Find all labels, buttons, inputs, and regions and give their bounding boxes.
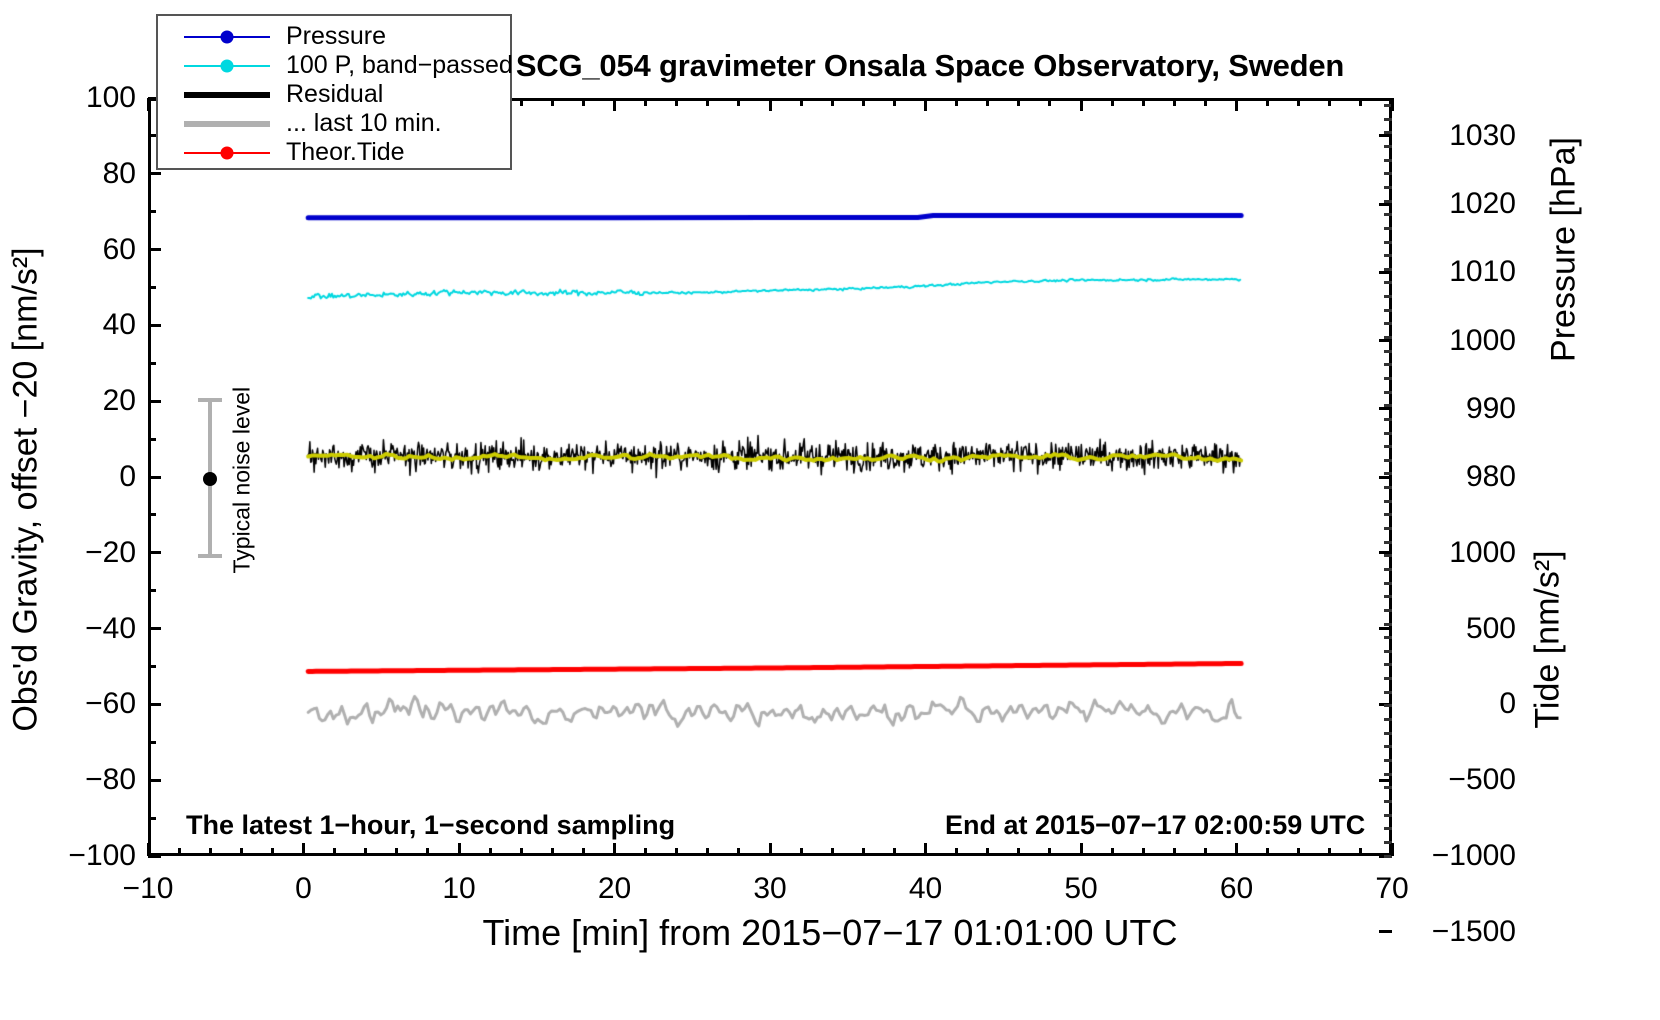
pressure-tick-major <box>1379 271 1392 274</box>
right-tick-minor <box>1384 595 1392 598</box>
tide-tick-major <box>1379 779 1392 782</box>
right-tick-minor <box>1384 486 1392 489</box>
y-tick-major <box>148 855 161 858</box>
x-tick-minor-top <box>551 98 554 106</box>
right-tick-minor <box>1384 472 1392 475</box>
pressure-tick-major <box>1379 407 1392 410</box>
x-tick-minor <box>737 848 740 856</box>
x-tick-minor-top <box>582 98 585 106</box>
y-tick-minor <box>148 286 156 289</box>
x-tick-minor-top <box>893 98 896 106</box>
x-tick-minor-top <box>1204 98 1207 106</box>
x-tick-minor <box>520 848 523 856</box>
x-tick-major-top <box>1080 98 1083 111</box>
x-tick-minor-top <box>520 98 523 106</box>
right-tick-minor <box>1384 241 1392 244</box>
x-tick-minor <box>1111 848 1114 856</box>
right-tick-minor <box>1384 445 1392 448</box>
y-tick-label: −100 <box>18 839 136 873</box>
right-tick-minor <box>1384 268 1392 271</box>
x-tick-minor-top <box>1048 98 1051 106</box>
right-tick-minor <box>1384 513 1392 516</box>
y-tick-minor <box>148 589 156 592</box>
tide-tick-label: 500 <box>1406 612 1516 646</box>
legend-swatch <box>184 143 270 163</box>
legend-label: Residual <box>286 80 383 109</box>
y-tick-minor <box>148 362 156 365</box>
right-tick-minor <box>1384 131 1392 134</box>
right-tick-minor <box>1384 568 1392 571</box>
y-tick-major <box>148 703 161 706</box>
right-tick-minor <box>1384 432 1392 435</box>
tide-tick-major <box>1379 627 1392 630</box>
x-tick-minor-top <box>955 98 958 106</box>
tide-tick-label: −1500 <box>1406 915 1516 949</box>
right-tick-minor <box>1384 336 1392 339</box>
right-tick-minor <box>1384 309 1392 312</box>
right-tick-minor <box>1384 363 1392 366</box>
x-tick-minor-top <box>986 98 989 106</box>
right-tick-minor <box>1384 186 1392 189</box>
x-tick-minor <box>706 848 709 856</box>
legend-item[interactable]: Residual <box>158 80 510 109</box>
right-tick-minor <box>1384 322 1392 325</box>
right-tick-minor <box>1384 745 1392 748</box>
right-tick-minor <box>1384 759 1392 762</box>
x-tick-minor <box>862 848 865 856</box>
pressure-tick-major <box>1379 134 1392 137</box>
right-tick-minor <box>1384 459 1392 462</box>
x-tick-minor <box>582 848 585 856</box>
noise-cap-bottom <box>198 554 222 558</box>
legend-swatch <box>184 114 270 134</box>
x-tick-major-top <box>769 98 772 111</box>
y-axis-right-tide-label: Tide [nm/s²] <box>1529 500 1568 780</box>
x-tick-minor <box>489 848 492 856</box>
right-tick-minor <box>1384 827 1392 830</box>
x-tick-major <box>458 843 461 856</box>
legend-item[interactable]: 100 P, band−passed <box>158 51 510 80</box>
x-tick-minor <box>675 848 678 856</box>
x-tick-major-top <box>924 98 927 111</box>
x-tick-minor <box>333 848 336 856</box>
legend-label: Pressure <box>286 22 386 51</box>
bottom-left-note: The latest 1−hour, 1−second sampling <box>186 810 675 841</box>
right-tick-minor <box>1384 732 1392 735</box>
x-tick-major <box>147 843 150 856</box>
legend-swatch <box>184 27 270 47</box>
legend-marker-dot <box>221 59 234 72</box>
x-tick-minor-top <box>644 98 647 106</box>
x-tick-major-top <box>1235 98 1238 111</box>
x-tick-minor <box>1359 848 1362 856</box>
x-tick-minor-top <box>737 98 740 106</box>
x-tick-major-top <box>147 98 150 111</box>
y-tick-major <box>148 627 161 630</box>
x-tick-minor <box>644 848 647 856</box>
x-tick-major <box>613 843 616 856</box>
pressure-tick-label: 1010 <box>1406 255 1516 289</box>
right-tick-minor <box>1384 609 1392 612</box>
right-tick-minor <box>1384 800 1392 803</box>
plot-canvas <box>148 98 1392 856</box>
legend-swatch <box>184 56 270 76</box>
x-tick-minor <box>178 848 181 856</box>
right-tick-minor <box>1384 718 1392 721</box>
y-tick-minor <box>148 438 156 441</box>
legend-marker-dot <box>221 30 234 43</box>
noise-level-label: Typical noise level <box>229 394 256 574</box>
y-tick-major <box>148 248 161 251</box>
right-tick-minor <box>1384 541 1392 544</box>
y-tick-major <box>148 400 161 403</box>
right-tick-minor <box>1384 172 1392 175</box>
y-tick-major <box>148 172 161 175</box>
tide-tick-label: −500 <box>1406 763 1516 797</box>
y-tick-major <box>148 324 161 327</box>
right-tick-minor <box>1384 404 1392 407</box>
x-tick-minor <box>240 848 243 856</box>
pressure-tick-major <box>1379 203 1392 206</box>
x-tick-minor-top <box>1359 98 1362 106</box>
y-tick-minor <box>148 134 156 137</box>
x-tick-minor-top <box>831 98 834 106</box>
x-tick-major <box>769 843 772 856</box>
right-tick-minor <box>1384 650 1392 653</box>
pressure-tick-label: 980 <box>1406 460 1516 494</box>
x-tick-minor <box>800 848 803 856</box>
x-tick-major-top <box>1391 98 1394 111</box>
right-tick-minor <box>1384 786 1392 789</box>
right-tick-minor <box>1384 554 1392 557</box>
legend-item[interactable]: Theor.Tide <box>158 138 510 167</box>
pressure-tick-major <box>1379 476 1392 479</box>
x-tick-minor <box>271 848 274 856</box>
noise-center-dot <box>203 472 217 486</box>
x-tick-label: 50 <box>1064 872 1097 906</box>
x-tick-minor <box>551 848 554 856</box>
tide-tick-label: 1000 <box>1406 536 1516 570</box>
x-tick-minor <box>1048 848 1051 856</box>
x-tick-label: 20 <box>598 872 631 906</box>
x-tick-minor <box>1266 848 1269 856</box>
right-tick-minor <box>1384 281 1392 284</box>
right-tick-minor <box>1384 814 1392 817</box>
x-tick-minor <box>1173 848 1176 856</box>
right-tick-minor <box>1384 677 1392 680</box>
y-tick-major <box>148 476 161 479</box>
x-tick-label: 70 <box>1375 872 1408 906</box>
legend-label: 100 P, band−passed <box>286 51 513 80</box>
tide-tick-label: 0 <box>1406 687 1516 721</box>
right-tick-minor <box>1384 391 1392 394</box>
x-tick-major <box>302 843 305 856</box>
right-tick-minor <box>1384 704 1392 707</box>
right-tick-minor <box>1384 663 1392 666</box>
x-tick-minor-top <box>1297 98 1300 106</box>
right-tick-minor <box>1384 418 1392 421</box>
x-tick-major-top <box>613 98 616 111</box>
x-tick-minor-top <box>706 98 709 106</box>
x-tick-minor <box>986 848 989 856</box>
y-tick-minor <box>148 513 156 516</box>
y-tick-label: 100 <box>18 81 136 115</box>
right-tick-minor <box>1384 227 1392 230</box>
x-tick-minor-top <box>1017 98 1020 106</box>
x-tick-minor <box>1017 848 1020 856</box>
right-tick-minor <box>1384 200 1392 203</box>
x-tick-minor <box>395 848 398 856</box>
y-tick-major <box>148 551 161 554</box>
right-tick-minor <box>1384 527 1392 530</box>
legend-swatch <box>184 85 270 105</box>
x-tick-minor <box>1297 848 1300 856</box>
x-tick-minor <box>831 848 834 856</box>
right-tick-minor <box>1384 145 1392 148</box>
x-tick-label: 30 <box>753 872 786 906</box>
x-tick-label: 10 <box>442 872 475 906</box>
x-tick-minor <box>955 848 958 856</box>
x-tick-minor <box>364 848 367 856</box>
right-tick-minor <box>1384 213 1392 216</box>
y-tick-minor <box>148 665 156 668</box>
noise-level-annotation: Typical noise level <box>182 398 262 578</box>
y-axis-left-label: Obs'd Gravity, offset −20 [nm/s²] <box>7 180 46 800</box>
y-tick-minor <box>148 210 156 213</box>
x-tick-label: 0 <box>295 872 312 906</box>
chart-page: SCG_054 gravimeter Onsala Space Observat… <box>0 0 1660 1020</box>
y-axis-right-pressure-label: Pressure [hPa] <box>1545 90 1584 410</box>
legend-item[interactable]: ... last 10 min. <box>158 109 510 138</box>
pressure-tick-label: 1000 <box>1406 324 1516 358</box>
y-tick-minor <box>148 817 156 820</box>
x-tick-minor-top <box>1111 98 1114 106</box>
x-tick-minor <box>1328 848 1331 856</box>
legend-label: ... last 10 min. <box>286 109 442 138</box>
x-tick-label: 40 <box>909 872 942 906</box>
right-tick-minor <box>1384 350 1392 353</box>
x-tick-minor <box>209 848 212 856</box>
page-title: SCG_054 gravimeter Onsala Space Observat… <box>430 48 1430 84</box>
x-tick-minor <box>1204 848 1207 856</box>
y-tick-minor <box>148 741 156 744</box>
right-tick-minor <box>1384 159 1392 162</box>
x-tick-label: −10 <box>123 872 174 906</box>
pressure-tick-label: 1020 <box>1406 187 1516 221</box>
x-tick-major <box>924 843 927 856</box>
right-tick-minor <box>1384 295 1392 298</box>
pressure-tick-label: 1030 <box>1406 119 1516 153</box>
pressure-tick-label: 990 <box>1406 392 1516 426</box>
x-tick-minor-top <box>800 98 803 106</box>
legend-marker-dot <box>221 146 234 159</box>
x-tick-minor-top <box>675 98 678 106</box>
legend-line <box>184 121 270 127</box>
x-tick-minor <box>893 848 896 856</box>
x-tick-minor-top <box>1266 98 1269 106</box>
right-tick-minor <box>1384 582 1392 585</box>
x-tick-minor-top <box>1142 98 1145 106</box>
tide-tick-major <box>1379 930 1392 933</box>
right-tick-minor <box>1384 118 1392 121</box>
x-tick-major <box>1235 843 1238 856</box>
bottom-right-note: End at 2015−07−17 02:00:59 UTC <box>945 810 1365 841</box>
legend-item[interactable]: Pressure <box>158 22 510 51</box>
right-tick-minor <box>1384 377 1392 380</box>
right-tick-minor <box>1384 254 1392 257</box>
right-tick-minor <box>1384 773 1392 776</box>
x-tick-minor-top <box>1328 98 1331 106</box>
y-tick-major <box>148 779 161 782</box>
x-axis-label: Time [min] from 2015−07−17 01:01:00 UTC <box>330 912 1330 954</box>
x-tick-minor-top <box>1173 98 1176 106</box>
right-tick-minor <box>1384 636 1392 639</box>
legend-line <box>184 92 270 98</box>
noise-cap-top <box>198 398 222 402</box>
legend: Pressure100 P, band−passedResidual... la… <box>156 14 512 170</box>
pressure-tick-major <box>1379 339 1392 342</box>
x-tick-major <box>1391 843 1394 856</box>
right-tick-minor <box>1384 500 1392 503</box>
x-tick-label: 60 <box>1220 872 1253 906</box>
tide-tick-label: −1000 <box>1406 839 1516 873</box>
x-tick-minor <box>1142 848 1145 856</box>
right-tick-minor <box>1384 691 1392 694</box>
x-tick-minor <box>426 848 429 856</box>
x-tick-minor-top <box>862 98 865 106</box>
legend-label: Theor.Tide <box>286 138 405 167</box>
x-tick-major <box>1080 843 1083 856</box>
right-tick-minor <box>1384 623 1392 626</box>
